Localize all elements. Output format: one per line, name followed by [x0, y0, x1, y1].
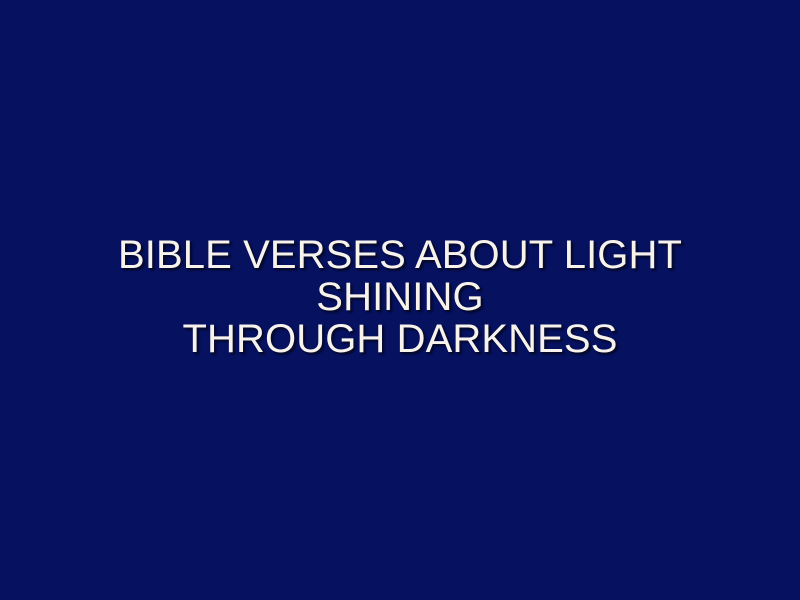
title-block: BIBLE VERSES ABOUT LIGHT SHINING THROUGH… [70, 234, 730, 360]
title-card: BIBLE VERSES ABOUT LIGHT SHINING THROUGH… [0, 0, 800, 600]
page-title: BIBLE VERSES ABOUT LIGHT SHINING THROUGH… [70, 234, 730, 360]
